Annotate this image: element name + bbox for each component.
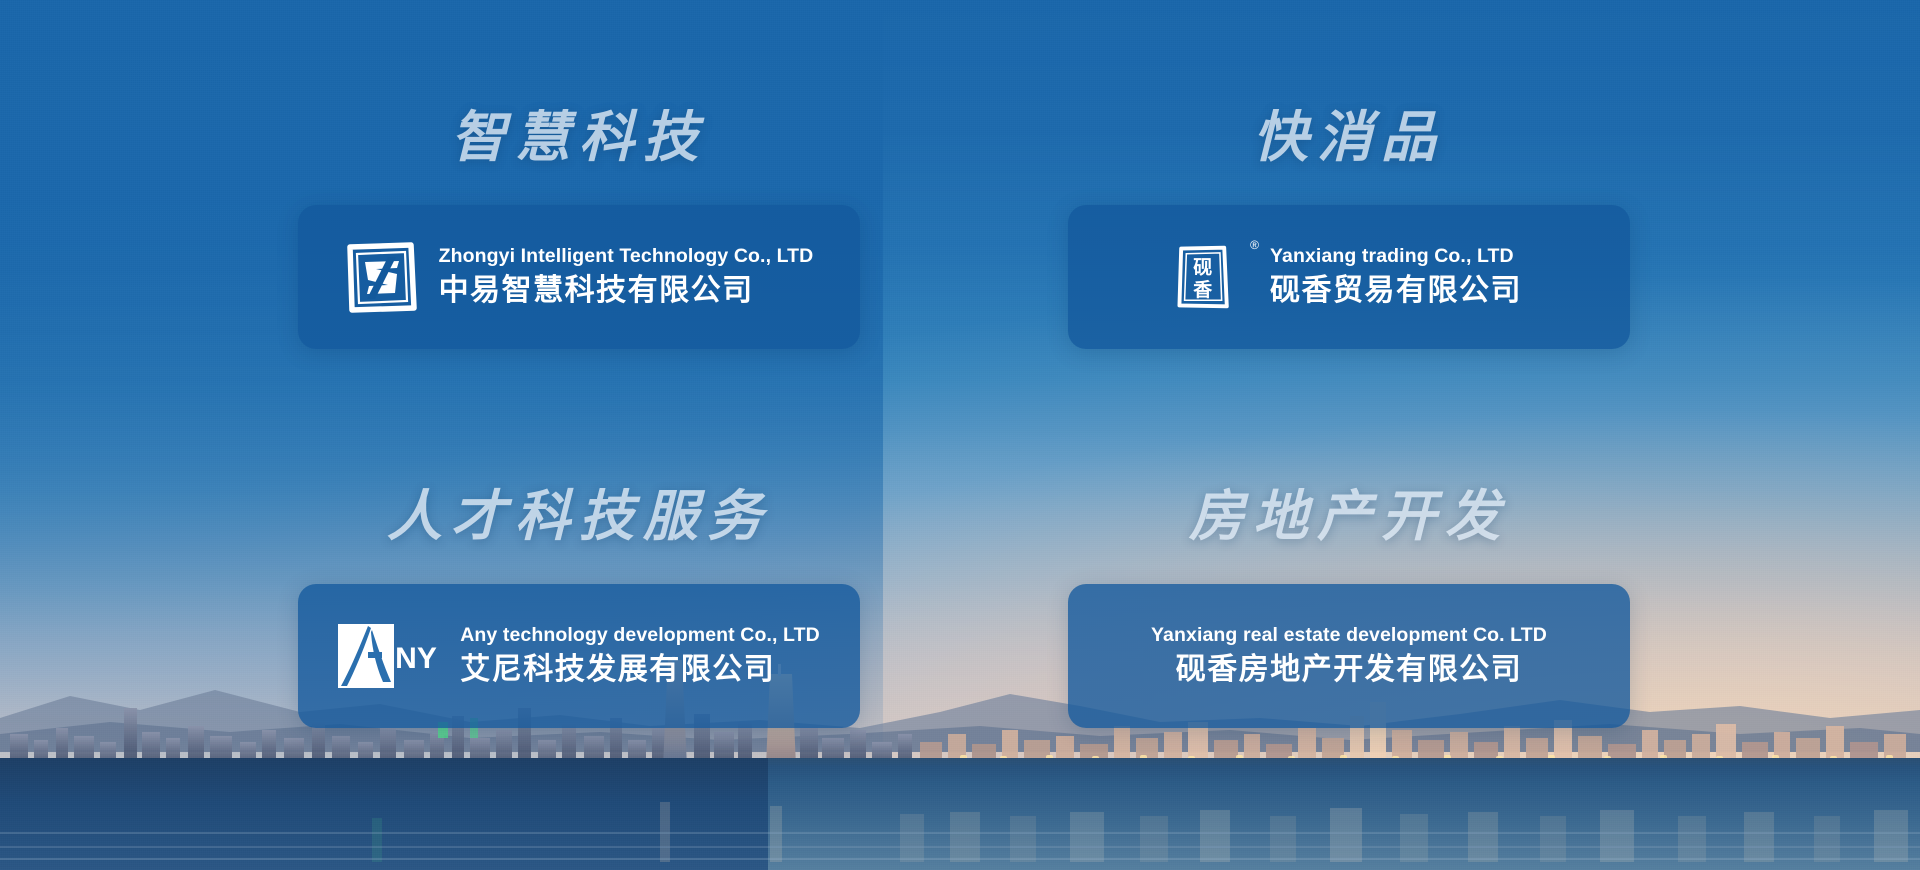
company-card-any-technology[interactable]: NY Any technology development Co., LTD 艾…: [298, 584, 860, 728]
yanxiang-seal-logo: 砚 香 ®: [1176, 241, 1248, 313]
seal-char-1: 砚: [1193, 257, 1212, 279]
company-card-yanxiang-real-estate[interactable]: Yanxiang real estate development Co. LTD…: [1068, 584, 1630, 728]
segment-smart-technology: 智慧科技 Zhongyi Intelligent Technology Co: [298, 110, 860, 349]
segment-heading-fmcg: 快消品: [1068, 110, 1630, 165]
segment-fmcg: 快消品 砚 香 ®: [1068, 110, 1630, 349]
company-card-yanxiang-trading[interactable]: 砚 香 ® Yanxiang trading Co., LTD 砚香贸易有限公司: [1068, 205, 1630, 349]
segment-talent-technology-services: 人才科技服务 NY Any technology: [298, 489, 860, 728]
company-name-cn: 砚香贸易有限公司: [1270, 271, 1522, 310]
company-card-zhongyi[interactable]: Zhongyi Intelligent Technology Co., LTD …: [298, 205, 860, 349]
registered-trademark-icon: ®: [1250, 239, 1259, 251]
company-names: Zhongyi Intelligent Technology Co., LTD …: [439, 244, 814, 309]
any-logo: NY: [338, 622, 438, 690]
seal-char-2: 香: [1193, 279, 1212, 301]
segment-real-estate-development: 房地产开发 Yanxiang real estate development C…: [1068, 489, 1630, 728]
company-names: Any technology development Co., LTD 艾尼科技…: [460, 623, 820, 688]
company-name-cn: 砚香房地产开发有限公司: [1176, 650, 1523, 689]
company-name-en: Any technology development Co., LTD: [460, 623, 820, 647]
company-name-en: Zhongyi Intelligent Technology Co., LTD: [439, 244, 814, 268]
segment-heading-talent-technology-services: 人才科技服务: [298, 489, 860, 544]
any-logo-text: NY: [395, 642, 437, 675]
company-names: Yanxiang trading Co., LTD 砚香贸易有限公司: [1270, 244, 1522, 309]
zhongyi-logo: [345, 241, 417, 313]
company-names: Yanxiang real estate development Co. LTD…: [1151, 623, 1547, 688]
business-segments-banner: 智慧科技 Zhongyi Intelligent Technology Co: [0, 0, 1920, 870]
company-name-en: Yanxiang real estate development Co. LTD: [1151, 623, 1547, 647]
segment-heading-smart-technology: 智慧科技: [298, 110, 860, 165]
segment-heading-real-estate-development: 房地产开发: [1068, 489, 1630, 544]
company-name-cn: 中易智慧科技有限公司: [439, 271, 814, 310]
company-name-en: Yanxiang trading Co., LTD: [1270, 244, 1522, 268]
company-name-cn: 艾尼科技发展有限公司: [460, 650, 820, 689]
segments-grid: 智慧科技 Zhongyi Intelligent Technology Co: [0, 0, 1920, 870]
